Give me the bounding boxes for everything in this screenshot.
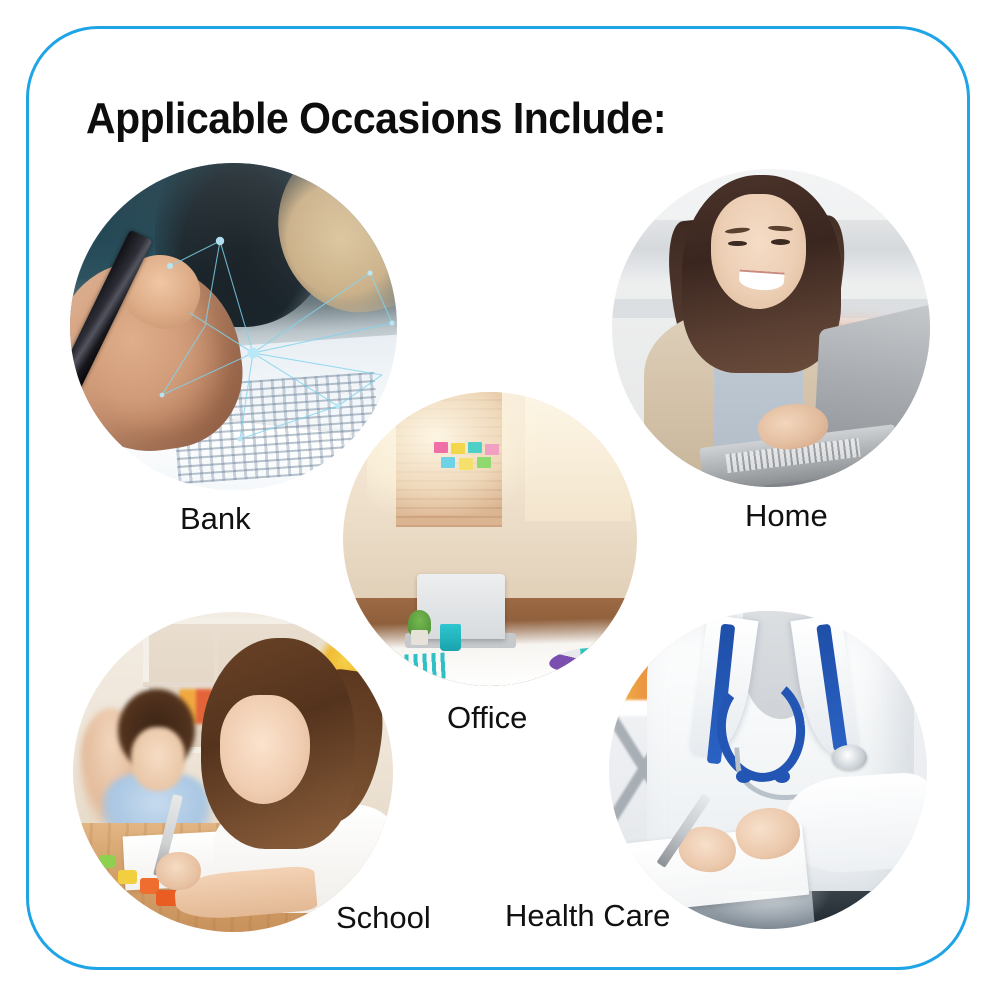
office-plant-pot — [411, 630, 429, 645]
home-face — [711, 194, 806, 308]
occasion-label-bank: Bank — [180, 501, 251, 537]
applicable-occasions-poster: Applicable Occasions Include: — [0, 0, 1000, 1000]
office-pen-cup — [440, 624, 461, 650]
healthcare-stethoscope-earpiece-left — [736, 770, 752, 783]
school-letter-yellow — [118, 870, 137, 884]
healthcare-stethoscope-earpiece-right — [774, 770, 790, 783]
school-photo-icon — [73, 612, 393, 932]
occasion-label-home: Home — [745, 498, 828, 534]
office-window — [525, 392, 631, 521]
healthcare-photo-icon — [609, 611, 927, 929]
office-bar-chart — [386, 652, 446, 681]
healthcare-desk-reflection — [704, 891, 831, 929]
school-classmate-face — [131, 727, 185, 791]
occasion-card-home[interactable]: Home — [612, 169, 930, 487]
healthcare-stethoscope-chestpiece — [832, 745, 867, 770]
school-girl-hand — [156, 852, 201, 890]
school-letter-green — [99, 855, 115, 868]
occasion-card-health-care[interactable]: Health Care — [609, 611, 927, 929]
home-eye-right — [771, 239, 790, 245]
page-title: Applicable Occasions Include: — [86, 94, 666, 144]
home-photo-icon — [612, 169, 930, 487]
occasion-label-school: School — [336, 900, 431, 936]
occasion-label-health-care: Health Care — [505, 898, 670, 934]
office-sticky-notes — [434, 442, 499, 471]
occasion-label-office: Office — [447, 700, 527, 736]
occasion-card-school[interactable]: School — [73, 612, 393, 932]
